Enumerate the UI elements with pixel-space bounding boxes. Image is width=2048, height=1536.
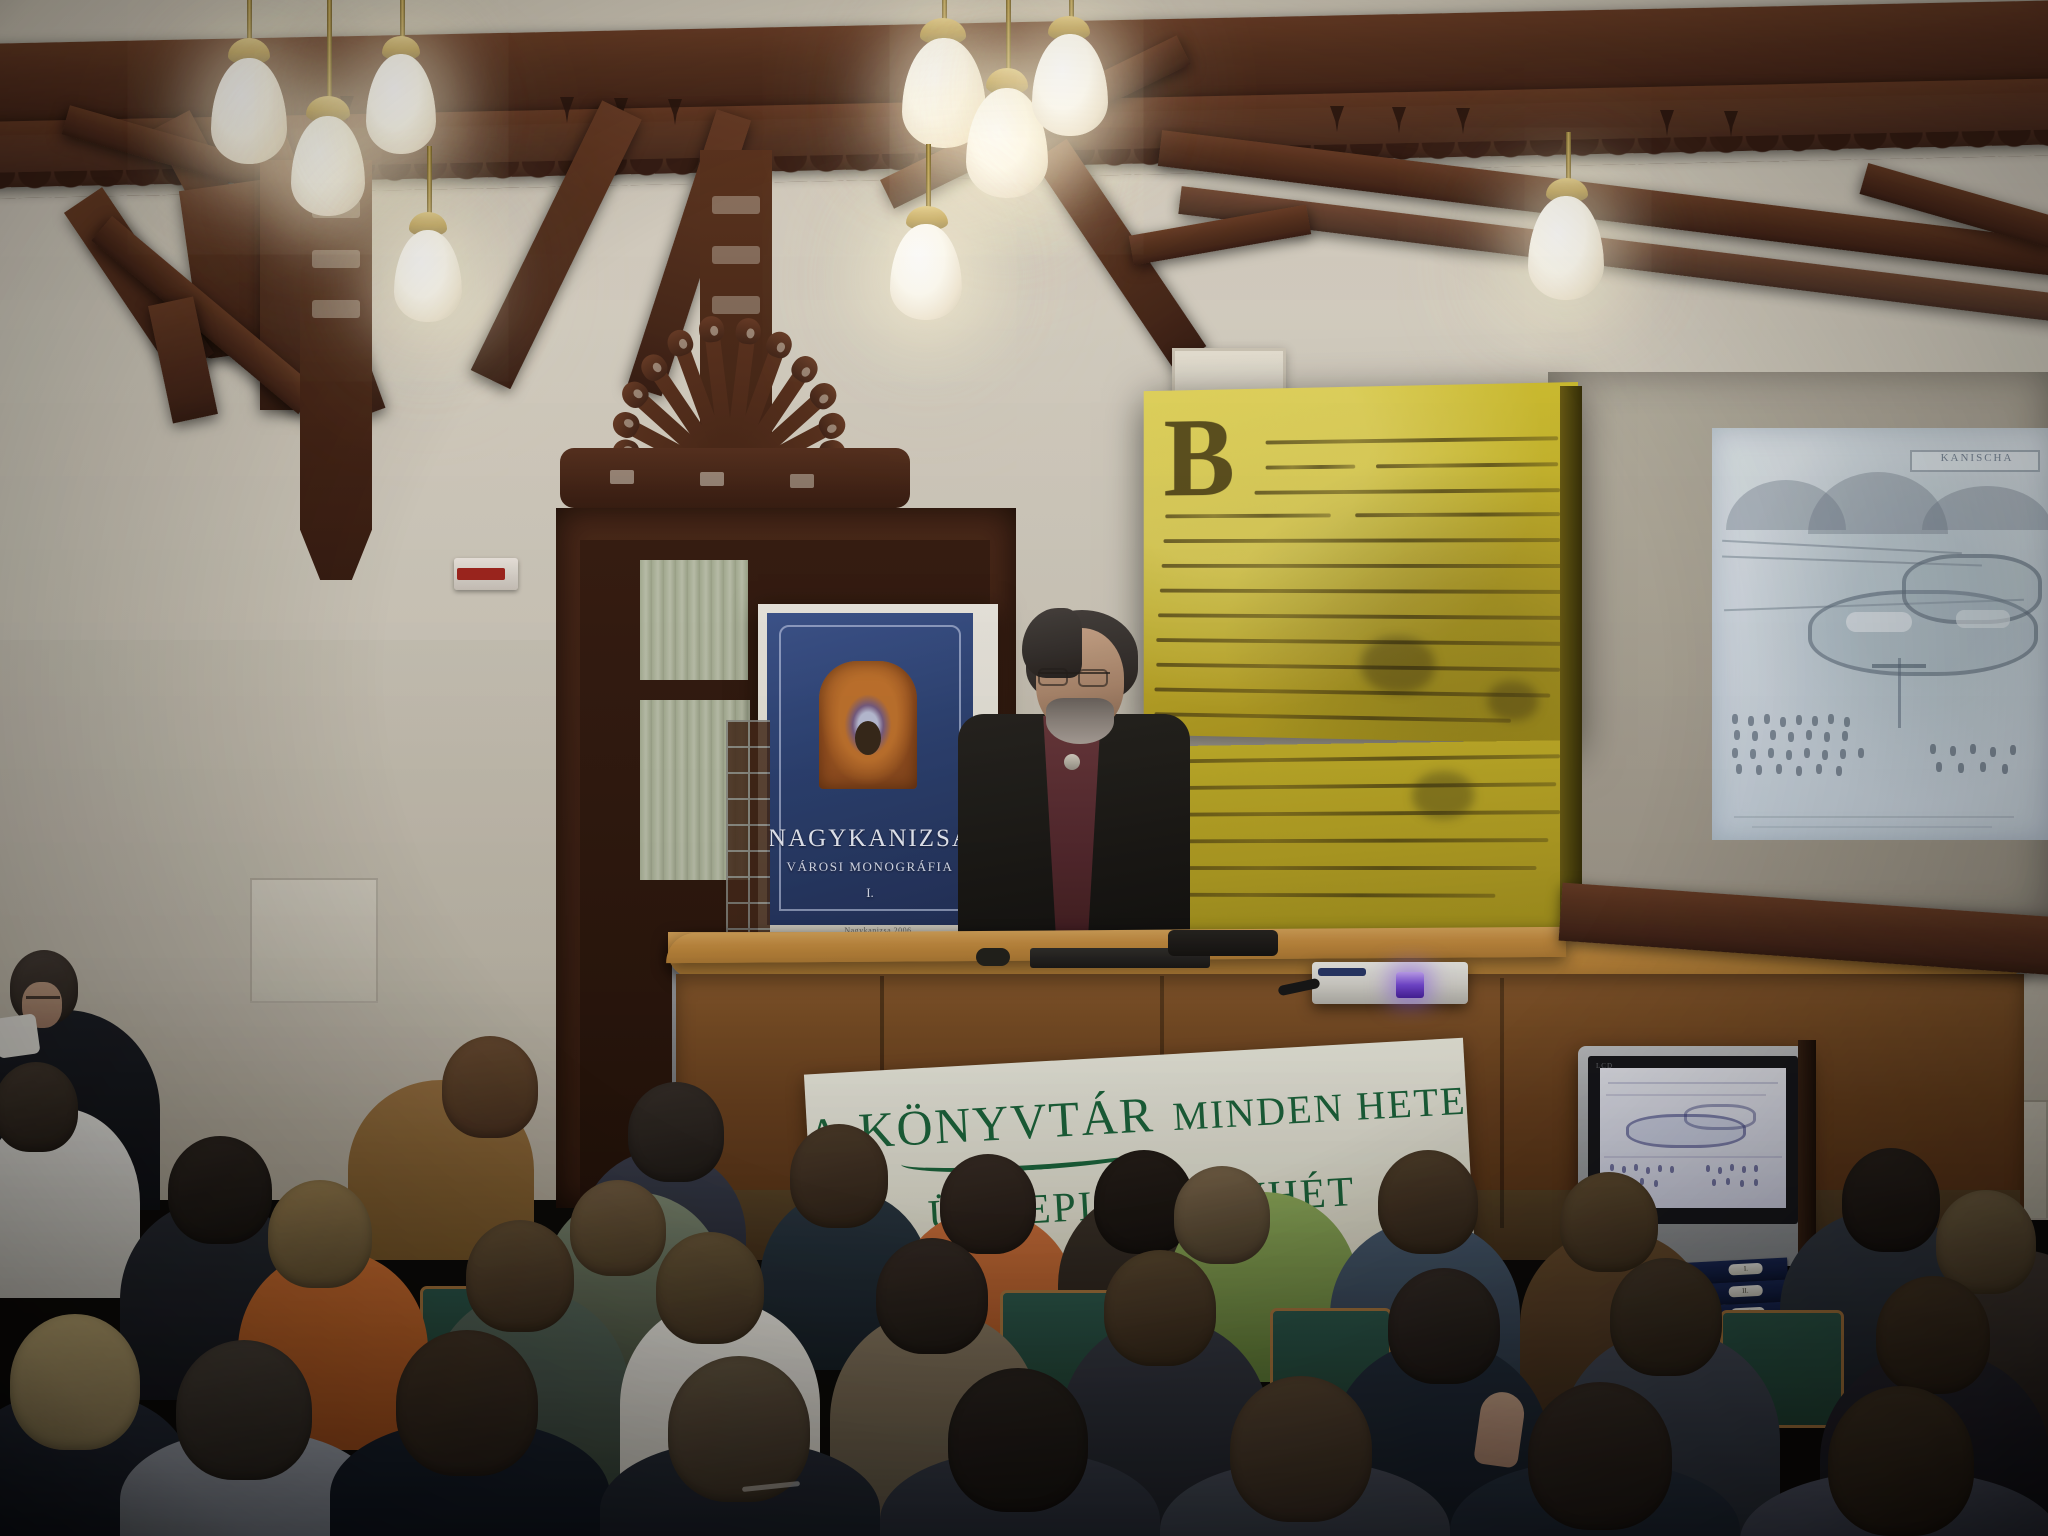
desk-panel-seam bbox=[1500, 978, 1504, 1228]
engraving-troops-left bbox=[1728, 714, 1898, 778]
pilaster-cutout bbox=[712, 246, 760, 264]
poster-volume: I. bbox=[767, 885, 973, 901]
engraving-troops-right bbox=[1926, 744, 2042, 788]
door-curtain-upper bbox=[640, 560, 748, 680]
bag-on-desk bbox=[1168, 930, 1278, 956]
lecture-hall-photo: KANISCHA bbox=[0, 0, 2048, 1536]
banner-word-minden-hete: MINDEN HETE bbox=[1171, 1078, 1467, 1139]
projected-engraving: KANISCHA bbox=[1712, 428, 2048, 840]
fire-alarm-device bbox=[454, 558, 518, 590]
rail-cutout bbox=[790, 474, 814, 488]
collar-pin bbox=[1064, 754, 1080, 770]
mouse[interactable] bbox=[976, 948, 1010, 966]
engraving-fort-keep bbox=[1846, 612, 1912, 632]
eyeglasses bbox=[26, 996, 60, 999]
projector-cable bbox=[1318, 968, 1366, 976]
engraving-fort-bastion bbox=[1956, 610, 2010, 628]
engraving-cross bbox=[1872, 664, 1926, 668]
wall-panel-left bbox=[250, 878, 378, 1003]
rail-cutout bbox=[700, 472, 724, 486]
manuscript-facsimile: B bbox=[1144, 382, 1578, 744]
rail-cutout bbox=[610, 470, 634, 484]
carved-pilaster-left bbox=[300, 160, 372, 580]
pilaster-cutout bbox=[312, 250, 360, 268]
poster-subtitle: VÁROSI MONOGRÁFIA bbox=[767, 859, 973, 875]
monitor-brand-label: LCD bbox=[1596, 1062, 1613, 1070]
shirt-collar bbox=[0, 1013, 41, 1058]
pilaster-cutout bbox=[312, 300, 360, 318]
video-projector bbox=[1312, 962, 1468, 1004]
monitor-fort-shape-2 bbox=[1684, 1104, 1756, 1130]
poster-title: NAGYKANIZSA bbox=[767, 825, 973, 853]
eyeglass-lens bbox=[1078, 669, 1108, 687]
eyeglass-lens bbox=[1038, 668, 1068, 686]
pilaster-cutout bbox=[712, 196, 760, 214]
engraving-title-text: KANISCHA bbox=[1918, 452, 2036, 464]
engraving-road bbox=[1898, 658, 1901, 728]
